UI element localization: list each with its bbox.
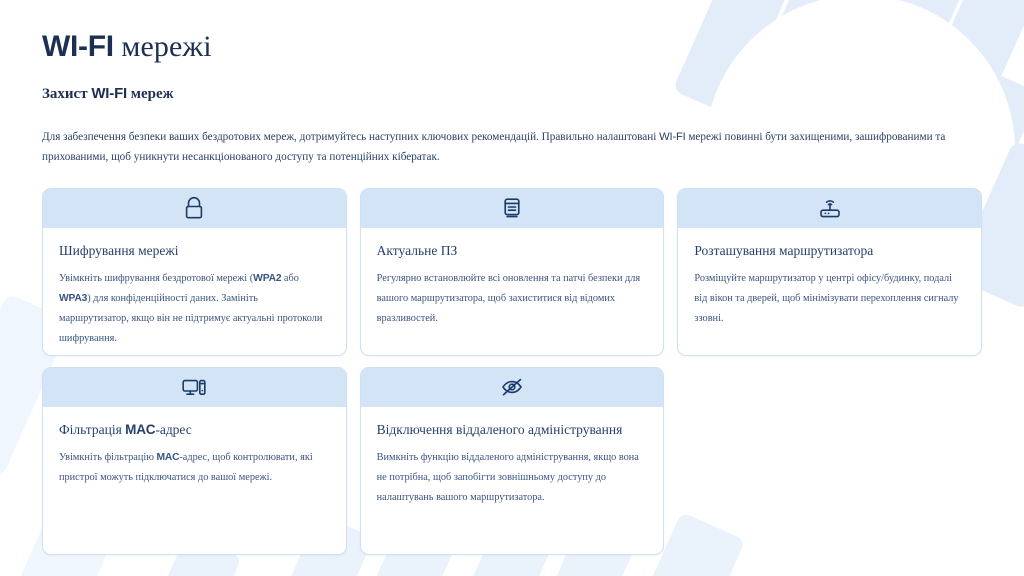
- card-title-part-2: -адрес: [155, 422, 191, 437]
- card-icon-band: [361, 368, 664, 407]
- section-subtitle-post: мереж: [127, 86, 174, 102]
- intro-paragraph: Для забезпечення безпеки ваших бездротов…: [42, 127, 947, 168]
- card-body: Фільтрація MAC-адрес Увімкніть фільтраці…: [43, 407, 346, 554]
- eye-off-icon: [499, 376, 525, 398]
- lock-icon: [183, 196, 205, 220]
- card-text-part-1: Увімкніть фільтрацію: [59, 452, 156, 463]
- desktop-computer-icon: [181, 376, 207, 398]
- card-title: Розташування маршрутизатора: [694, 242, 965, 260]
- card-body: Шифрування мережі Увімкніть шифрування б…: [43, 228, 346, 356]
- card-software-updates[interactable]: Актуальне ПЗ Регулярно встановлюйте всі …: [360, 188, 665, 356]
- card-text-part-1: Увімкніть шифрування бездротової мережі …: [59, 273, 253, 284]
- page-root: WI-FI мережі Захист WI-FI мереж Для забе…: [0, 0, 1024, 576]
- page-title-brand: WI-FI: [42, 30, 114, 63]
- card-text-part-3: ) для конфіденційності даних. Замініть м…: [59, 293, 322, 344]
- router-icon: [817, 196, 843, 220]
- intro-brand: WI-FI: [659, 131, 685, 143]
- card-text-brand-mac: MAC: [156, 452, 179, 463]
- card-title: Відключення віддаленого адміністрування: [377, 421, 648, 439]
- card-icon-band: [43, 368, 346, 407]
- card-mac-filtering[interactable]: Фільтрація MAC-адрес Увімкніть фільтраці…: [42, 367, 347, 555]
- device-update-icon: [502, 197, 522, 219]
- card-body: Розташування маршрутизатора Розміщуйте м…: [678, 228, 981, 355]
- card-title: Шифрування мережі: [59, 242, 330, 260]
- card-row-spacer: [677, 367, 982, 555]
- card-icon-band: [361, 189, 664, 228]
- card-text: Увімкніть шифрування бездротової мережі …: [59, 269, 330, 349]
- section-subtitle-pre: Захист: [42, 86, 91, 102]
- card-text-part-2: або: [281, 273, 299, 284]
- card-icon-band: [43, 189, 346, 228]
- card-text: Вимкніть функцію віддаленого адмініструв…: [377, 448, 648, 508]
- intro-part-1: Для забезпечення безпеки ваших бездротов…: [42, 131, 659, 143]
- card-title-part-1: Фільтрація: [59, 422, 125, 437]
- card-row-top: Шифрування мережі Увімкніть шифрування б…: [42, 188, 982, 356]
- card-body: Відключення віддаленого адміністрування …: [361, 407, 664, 554]
- card-body: Актуальне ПЗ Регулярно встановлюйте всі …: [361, 228, 664, 355]
- section-subtitle: Захист WI-FI мереж: [42, 85, 982, 103]
- card-disable-remote-admin[interactable]: Відключення віддаленого адміністрування …: [360, 367, 665, 555]
- card-text: Увімкніть фільтрацію MAC-адрес, щоб конт…: [59, 448, 330, 488]
- card-text: Регулярно встановлюйте всі оновлення та …: [377, 269, 648, 329]
- section-subtitle-brand: WI-FI: [91, 85, 127, 102]
- card-text-brand-wpa3: WPA3: [59, 293, 87, 304]
- card-title: Фільтрація MAC-адрес: [59, 421, 330, 439]
- card-network-encryption[interactable]: Шифрування мережі Увімкніть шифрування б…: [42, 188, 347, 356]
- page-title: WI-FI мережі: [42, 30, 982, 65]
- card-title-brand-mac: MAC: [125, 422, 155, 437]
- card-icon-band: [678, 189, 981, 228]
- card-row-bottom: Фільтрація MAC-адрес Увімкніть фільтраці…: [42, 367, 982, 555]
- card-title: Актуальне ПЗ: [377, 242, 648, 260]
- card-router-placement[interactable]: Розташування маршрутизатора Розміщуйте м…: [677, 188, 982, 356]
- page-title-text: мережі: [121, 30, 211, 63]
- card-text-brand-wpa2: WPA2: [253, 273, 281, 284]
- card-text: Розміщуйте маршрутизатор у центрі офісу/…: [694, 269, 965, 329]
